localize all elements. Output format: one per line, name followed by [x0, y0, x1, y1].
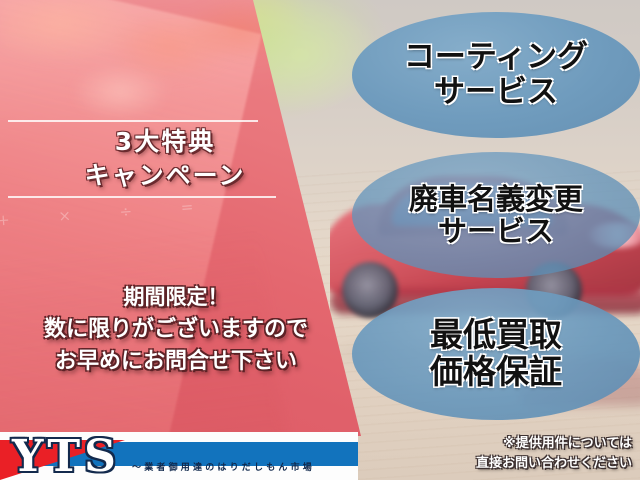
yts-logo-banner: YTS ～業者御用達のはりだしもん市場: [0, 432, 358, 480]
headline-line-2: キャンペーン: [0, 158, 330, 194]
service-bubble-coating: コーティング サービス: [352, 12, 640, 138]
body-line-2: 数に限りがございますので: [0, 314, 352, 346]
bubble-3-line-1: 最低買取: [430, 317, 562, 354]
disclaimer-note: ※提供用件については 直接お問い合わせください: [372, 434, 632, 474]
bubble-3-line-2: 価格保証: [430, 354, 562, 391]
note-line-1: ※提供用件については: [372, 434, 632, 454]
promo-banner: + × ÷ = 3大特典 キャンペーン 期間限定！ 数に限りがございますので お…: [0, 0, 640, 480]
logo-tagline: ～業者御用達のはりだしもん市場: [132, 460, 354, 473]
logo-wordmark: YTS: [12, 434, 120, 480]
note-line-2: 直接お問い合わせください: [372, 454, 632, 474]
panel-headline: 3大特典 キャンペーン: [0, 126, 330, 194]
body-line-1: 期間限定！: [0, 280, 352, 314]
bubble-1-line-1: コーティング: [404, 40, 588, 75]
headline-line-1: 3大特典: [0, 126, 330, 158]
bubble-2-line-2: サービス: [438, 215, 554, 247]
bubble-2-line-1: 廃車名義変更: [409, 183, 583, 215]
divider-bottom: [8, 196, 276, 198]
bubble-1-line-2: サービス: [434, 75, 558, 110]
panel-body-text: 期間限定！ 数に限りがございますので お早めにお問合せ下さい: [0, 280, 352, 378]
body-line-3: お早めにお問合せ下さい: [0, 346, 352, 378]
service-bubble-scrap-transfer: 廃車名義変更 サービス: [352, 152, 640, 278]
service-bubble-price-guarantee: 最低買取 価格保証: [352, 288, 640, 420]
divider-top: [8, 120, 258, 122]
